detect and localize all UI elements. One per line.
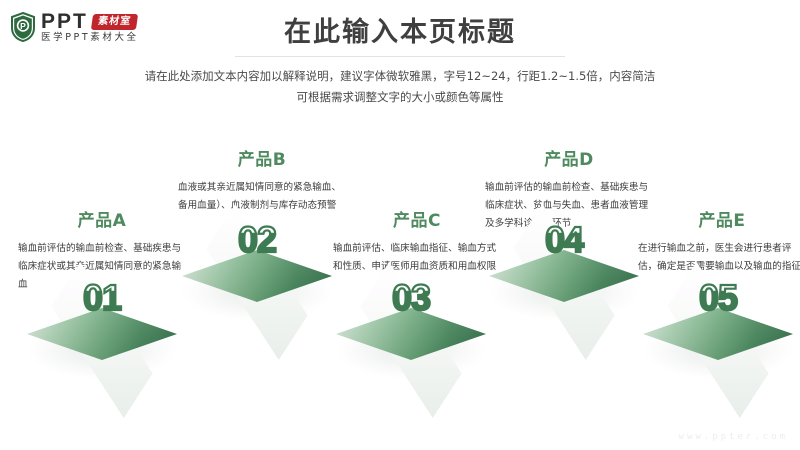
item-text-05[interactable]: 产品E 在进行输血之前，医生会进行患者评估，确定是否需要输血以及输血的指征: [638, 211, 800, 276]
page-title: 在此输入本页标题: [0, 16, 800, 50]
diamond-plate-03[interactable]: 03 03: [336, 292, 486, 378]
diamond-plate-01[interactable]: 01 01: [27, 292, 177, 378]
subtitle-line-2: 可根据需求调整文字的大小或颜色等属性: [0, 87, 800, 108]
diamond-plate-02[interactable]: 02 02: [182, 234, 332, 320]
footer-watermark: www.ppter.com: [679, 432, 788, 442]
item-title-01: 产品A: [18, 211, 186, 231]
item-title-02: 产品B: [178, 150, 346, 170]
item-title-04: 产品D: [485, 150, 653, 170]
item-desc-03: 输血前评估、临床输血指征、输血方式和性质、申请医师用血资质和用血权限: [333, 240, 501, 275]
page-subtitle: 请在此处添加文本内容加以解释说明，建议字体微软雅黑，字号12~24，行距1.2~…: [0, 66, 800, 109]
subtitle-line-1: 请在此处添加文本内容加以解释说明，建议字体微软雅黑，字号12~24，行距1.2~…: [0, 66, 800, 87]
title-divider: [235, 56, 565, 57]
item-title-05: 产品E: [638, 211, 800, 231]
item-title-03: 产品C: [333, 211, 501, 231]
item-text-02[interactable]: 产品B 血液或其亲近属知情同意的紧急输血、备用血量）、血液制剂与库存动态预警: [178, 150, 346, 215]
item-desc-02: 血液或其亲近属知情同意的紧急输血、备用血量）、血液制剂与库存动态预警: [178, 179, 346, 214]
item-text-03[interactable]: 产品C 输血前评估、临床输血指征、输血方式和性质、申请医师用血资质和用血权限: [333, 211, 501, 276]
diamond-plate-05[interactable]: 05 05: [643, 292, 793, 378]
diamond-plate-04[interactable]: 04 04: [489, 234, 639, 320]
header: 在此输入本页标题 请在此处添加文本内容加以解释说明，建议字体微软雅黑，字号12~…: [0, 16, 800, 108]
item-desc-05: 在进行输血之前，医生会进行患者评估，确定是否需要输血以及输血的指征: [638, 240, 800, 275]
